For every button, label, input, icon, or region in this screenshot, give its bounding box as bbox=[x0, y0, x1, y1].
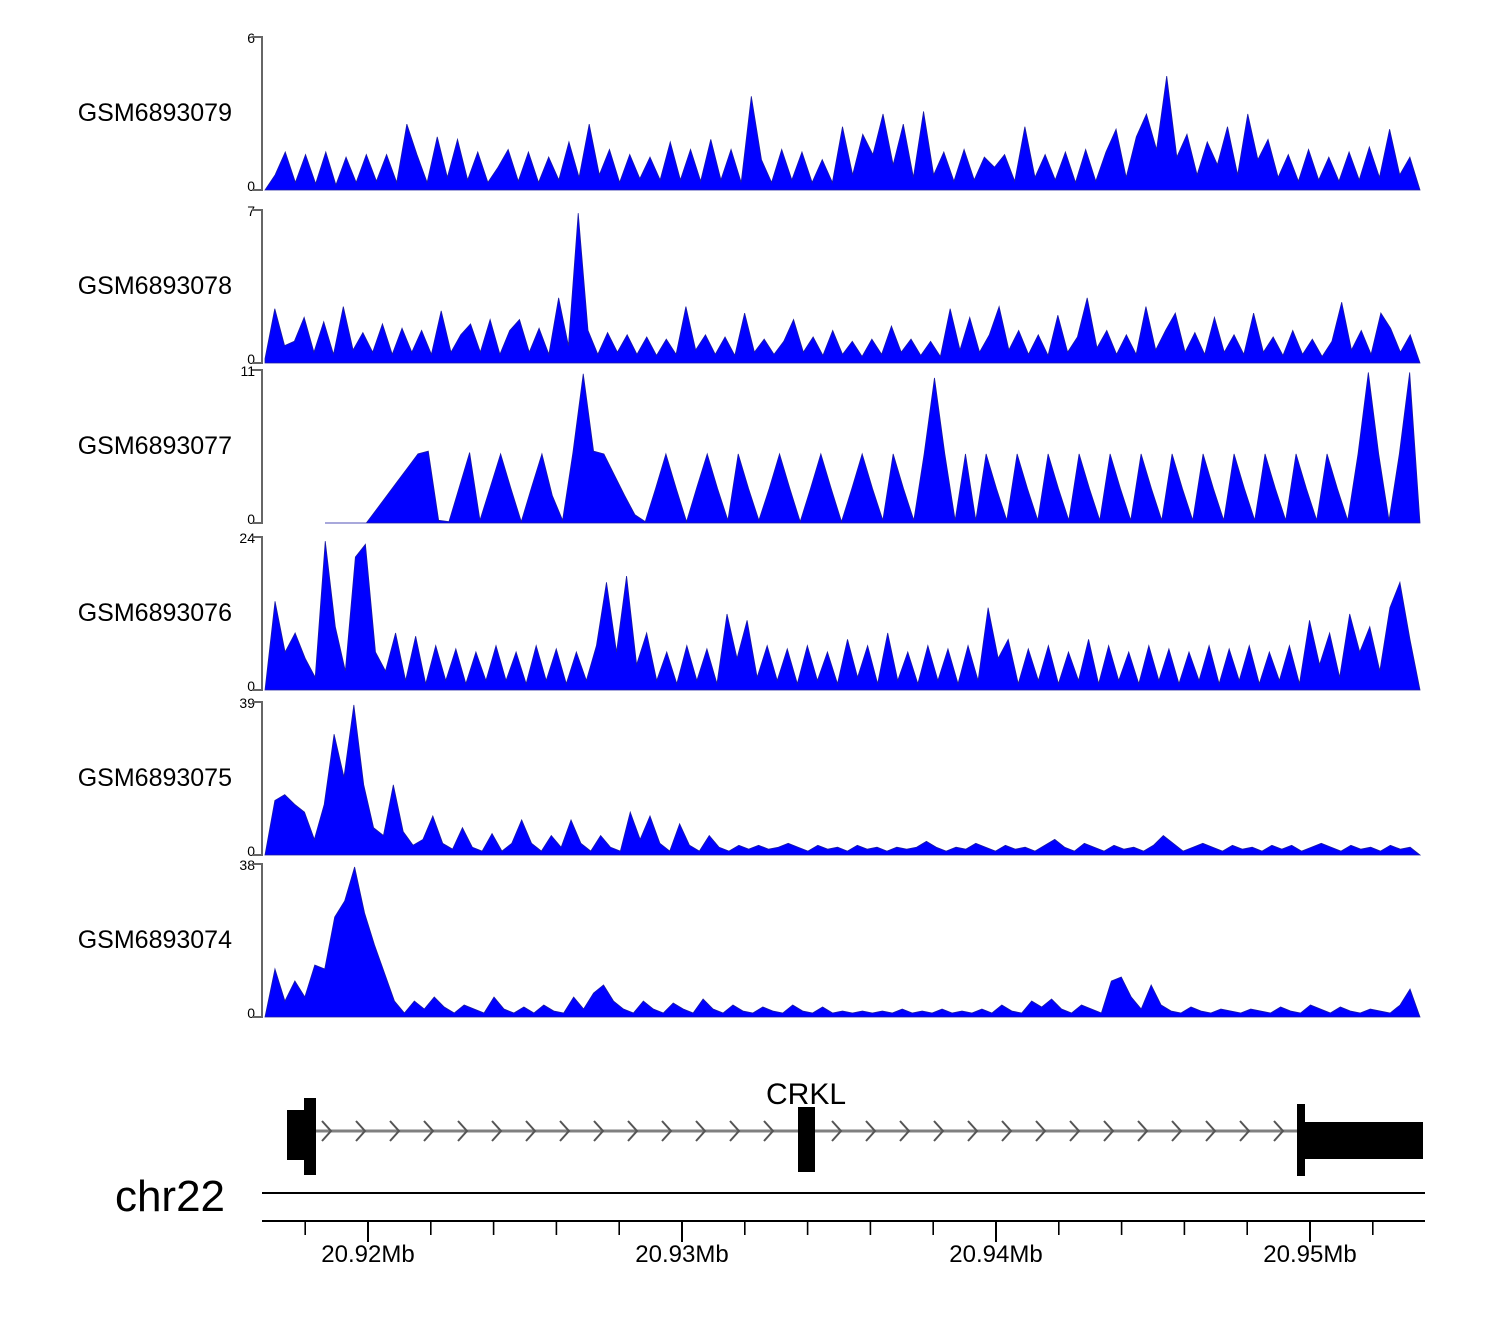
gene-model-track[interactable]: CRKL bbox=[0, 1085, 1500, 1185]
coverage-track[interactable]: GSM6893076240 bbox=[0, 535, 1500, 690]
exon-block[interactable] bbox=[1297, 1104, 1305, 1176]
coverage-track[interactable]: GSM689307870 bbox=[0, 208, 1500, 363]
y-axis-bracket bbox=[252, 37, 262, 190]
y-axis-bracket bbox=[252, 537, 262, 690]
track-plot bbox=[0, 700, 1500, 861]
y-axis-bracket bbox=[252, 210, 262, 363]
gene-name-label: CRKL bbox=[766, 1080, 846, 1110]
coverage-area[interactable] bbox=[265, 867, 1420, 1017]
coverage-area[interactable] bbox=[325, 372, 1420, 523]
track-plot bbox=[0, 862, 1500, 1023]
gene-model-svg bbox=[0, 1085, 1500, 1185]
exon-block[interactable] bbox=[304, 1098, 316, 1175]
track-plot bbox=[0, 35, 1500, 196]
coverage-track[interactable]: GSM6893077110 bbox=[0, 368, 1500, 523]
genome-browser-figure: GSM689307960GSM689307870GSM6893077110GSM… bbox=[0, 0, 1500, 1320]
coverage-track[interactable]: GSM6893074380 bbox=[0, 862, 1500, 1017]
exon-block[interactable] bbox=[1304, 1122, 1423, 1159]
track-plot bbox=[0, 208, 1500, 369]
y-axis-bracket bbox=[252, 370, 262, 523]
coverage-area[interactable] bbox=[265, 76, 1420, 190]
genomic-ruler[interactable]: 20.92Mb20.93Mb20.94Mb20.95Mb bbox=[0, 1185, 1500, 1275]
ruler-tick-label: 20.95Mb bbox=[1263, 1243, 1356, 1267]
coverage-area[interactable] bbox=[265, 705, 1420, 855]
track-plot bbox=[0, 368, 1500, 529]
ruler-tick-label: 20.92Mb bbox=[321, 1243, 414, 1267]
coverage-track[interactable]: GSM6893075390 bbox=[0, 700, 1500, 855]
y-axis-bracket bbox=[252, 864, 262, 1017]
coverage-area[interactable] bbox=[265, 213, 1420, 363]
ruler-svg bbox=[0, 1185, 1500, 1245]
y-axis-bracket bbox=[252, 702, 262, 855]
track-plot bbox=[0, 535, 1500, 696]
coverage-track[interactable]: GSM689307960 bbox=[0, 35, 1500, 190]
exon-block[interactable] bbox=[798, 1107, 815, 1172]
ruler-tick-label: 20.94Mb bbox=[949, 1243, 1042, 1267]
ruler-tick-label: 20.93Mb bbox=[635, 1243, 728, 1267]
coverage-area[interactable] bbox=[265, 541, 1420, 690]
ruler-tick-group bbox=[305, 1221, 1373, 1242]
